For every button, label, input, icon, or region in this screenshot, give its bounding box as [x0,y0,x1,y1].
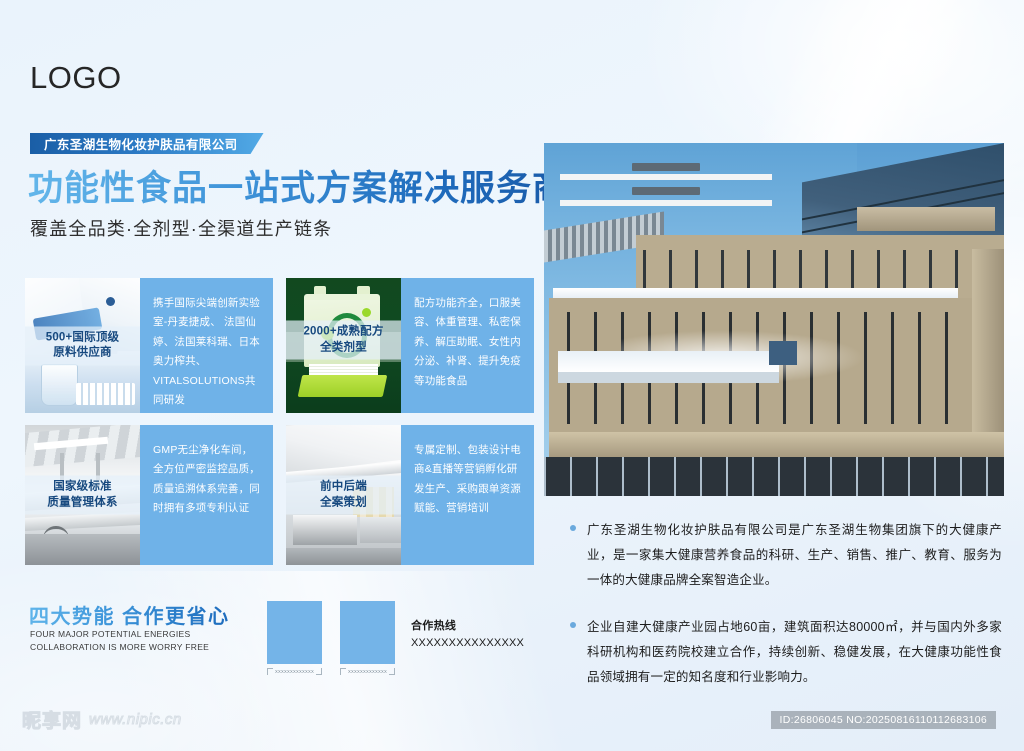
badge-line-1: 前中后端 [288,479,399,495]
canopy-shadow [558,372,779,383]
package-base [298,375,388,397]
qr-code-image[interactable] [340,601,395,664]
facade-ledge-2 [560,200,773,206]
qr-code-group: XXXXXXXXXXXXX XXXXXXXXXXXXX [267,601,395,676]
blue-accent-block [769,341,797,366]
company-description-list: 广东圣湖生物化妆护肤品有限公司是广东圣湖生物集团旗下的大健康产业，是一家集大健康… [570,518,1002,712]
list-item: 企业自建大健康产业园占地60亩，建筑面积达80000㎡，并与国内外多家科研机构和… [570,615,1002,690]
hotline-block: 合作热线 XXXXXXXXXXXXXXX [411,617,524,649]
bullet-text: 广东圣湖生物化妆护肤品有限公司是广东圣湖生物集团旗下的大健康产业，是一家集大健康… [587,518,1002,593]
retail-planning-photo: 前中后端 全案策划 [286,425,401,565]
ground-floor-windows [544,457,1004,496]
package-pip-small [362,308,371,317]
card-text-body: GMP无尘净化车间，全方位严密监控品质，质量追溯体系完善，同时拥有多项专利认证 [153,441,262,519]
card-text-body: 携手国际尖端创新实验室-丹麦捷成、 法国仙婷、法国莱科瑞、日本奥力榨共、VITA… [153,294,262,411]
card-text-body: 专属定制、包装设计电商&直播等营销孵化研发生产、采购跟单资源赋能、营销培训 [414,441,523,519]
badge-line-2: 原料供应商 [27,346,138,362]
bullet-dot-icon [570,622,576,628]
list-item: 广东圣湖生物化妆护肤品有限公司是广东圣湖生物集团旗下的大健康产业，是一家集大健康… [570,518,1002,593]
badge-line-2: 质量管理体系 [27,495,138,511]
watermark-url-text: www.nipic.cn [89,711,182,728]
qr-code-caption: XXXXXXXXXXXXX [267,667,322,676]
feature-card-formulas: 2000+成熟配方 全类剂型 配方功能齐全，口服美容、体重管理、私密保养、解压助… [286,278,534,413]
feature-card-row-1: 500+国际顶级 原料供应商 携手国际尖端创新实验室-丹麦捷成、 法国仙婷、法国… [25,278,535,413]
side-counter [360,517,401,542]
page-title: 功能性食品一站式方案解决服务商 [28,168,568,209]
card-badge-suppliers: 500+国际顶级 原料供应商 [25,326,140,365]
badge-line-1: 国家级标准 [27,479,138,495]
roof-vent-1 [632,163,701,171]
right-roof-cap [857,207,995,232]
badge-line-1: 2000+成熟配方 [288,325,399,341]
badge-line-2: 全案策划 [288,495,399,511]
bullet-text: 企业自建大健康产业园占地60亩，建筑面积达80000㎡，并与国内外多家科研机构和… [587,615,1002,690]
watermark-chinese-text: 昵享网 [22,706,82,733]
badge-line-2: 全类剂型 [288,340,399,356]
base-stone-band [549,432,1004,457]
corporate-building-photo [544,143,1004,496]
sample-tray-shape [76,383,136,405]
floor-shape [25,534,140,565]
qr-code-item[interactable]: XXXXXXXXXXXXX [340,601,395,676]
qr-code-image[interactable] [267,601,322,664]
roof-vent-2 [632,187,701,195]
facade-ledge-1 [560,174,773,180]
four-energies-heading: 四大势能 合作更省心 [29,600,230,629]
card-text-suppliers: 携手国际尖端创新实验室-丹麦捷成、 法国仙婷、法国莱科瑞、日本奥力榨共、VITA… [140,278,273,413]
qr-code-item[interactable]: XXXXXXXXXXXXX [267,601,322,676]
cleanroom-workshop-photo: 国家级标准 质量管理体系 [25,425,140,565]
bullet-dot-icon [570,525,576,531]
floor-shape [286,548,401,565]
card-badge-planning: 前中后端 全案策划 [286,475,401,514]
qr-code-caption: XXXXXXXXXXXXX [340,667,395,676]
company-name-text: 广东圣湖生物化妆护肤品有限公司 [44,134,238,153]
service-counter [293,515,357,546]
beaker-shape [41,364,78,407]
feature-card-suppliers: 500+国际顶级 原料供应商 携手国际尖端创新实验室-丹麦捷成、 法国仙婷、法国… [25,278,273,413]
card-badge-quality: 国家级标准 质量管理体系 [25,475,140,514]
hotline-label: 合作热线 [411,617,524,633]
badge-line-1: 500+国际顶级 [27,330,138,346]
lab-researcher-photo: 500+国际顶级 原料供应商 [25,278,140,413]
page-subtitle: 覆盖全品类·全剂型·全渠道生产链条 [30,215,332,241]
card-text-formulas: 配方功能齐全，口服美容、体重管理、私密保养、解压助眠、女性内分泌、补肾、提升免疫… [401,278,534,413]
lab-badge-dot [106,297,115,306]
card-text-quality: GMP无尘净化车间，全方位严密监控品质，质量追溯体系完善，同时拥有多项专利认证 [140,425,273,565]
feature-card-quality: 国家级标准 质量管理体系 GMP无尘净化车间，全方位严密监控品质，质量追溯体系完… [25,425,273,565]
card-badge-formulas: 2000+成熟配方 全类剂型 [286,321,401,360]
subheading-line-2: COLLABORATION IS MORE WORRY FREE [30,641,209,654]
feature-card-row-2: 国家级标准 质量管理体系 GMP无尘净化车间，全方位严密监控品质，质量追溯体系完… [25,425,535,565]
logo-placeholder: LOGO [30,60,122,96]
poster-page: LOGO 广东圣湖生物化妆护肤品有限公司 功能性食品一站式方案解决服务商 覆盖全… [0,0,1024,751]
subheading-line-1: FOUR MAJOR POTENTIAL ENERGIES [30,628,209,641]
right-stone-column [972,249,1004,447]
company-name-banner: 广东圣湖生物化妆护肤品有限公司 [30,133,264,154]
card-text-body: 配方功能齐全，口服美容、体重管理、私密保养、解压助眠、女性内分泌、补肾、提升免疫… [414,294,523,391]
hotline-value: XXXXXXXXXXXXXXX [411,637,524,649]
entrance-canopy [558,351,779,372]
feature-card-grid: 500+国际顶级 原料供应商 携手国际尖端创新实验室-丹麦捷成、 法国仙婷、法国… [25,278,535,577]
product-package-photo: 2000+成熟配方 全类剂型 [286,278,401,413]
card-text-planning: 专属定制、包装设计电商&直播等营销孵化研发生产、采购跟单资源赋能、营销培训 [401,425,534,565]
site-watermark: 昵享网 www.nipic.cn [22,706,182,733]
asset-id-badge: ID:26806045 NO:20250816110112683106 [771,711,996,729]
feature-card-planning: 前中后端 全案策划 专属定制、包装设计电商&直播等营销孵化研发生产、采购跟单资源… [286,425,534,565]
four-energies-subheading: FOUR MAJOR POTENTIAL ENERGIES COLLABORAT… [30,628,209,654]
